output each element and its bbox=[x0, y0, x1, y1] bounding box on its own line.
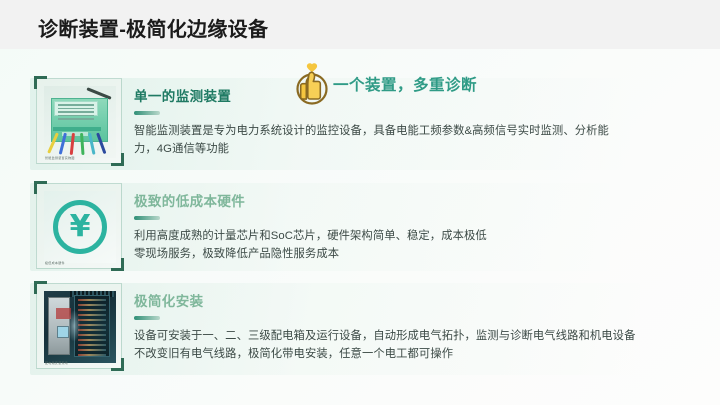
slide-root: 诊断装置-极简化边缘设备 一个装置，多重诊断 bbox=[0, 0, 720, 405]
title-underline bbox=[134, 111, 160, 115]
electrical-cabinet-photo bbox=[44, 291, 116, 363]
title-underline bbox=[134, 216, 160, 220]
thumbnail-device-photo: 智能监测装置实物图 bbox=[36, 78, 122, 164]
cabinet-door bbox=[48, 297, 70, 355]
feature-title: 极简化安装 bbox=[134, 295, 720, 310]
slide-header-bar: 诊断装置-极简化边缘设备 bbox=[0, 0, 720, 49]
thumbnail-image bbox=[44, 291, 116, 363]
feature-title: 单一的监测装置 bbox=[134, 90, 720, 105]
feature-row-single-monitoring-device: 智能监测装置实物图 单一的监测装置 智能监测装置是专为电力系统设计的监控设备，具… bbox=[0, 78, 720, 164]
thumbnail-caption: 配电箱安装现场 bbox=[45, 361, 68, 365]
thumbnail-frame: ¥ 极低成本硬件 bbox=[36, 183, 122, 269]
feature-text-block: 单一的监测装置 智能监测装置是专为电力系统设计的监控设备，具备电能工频参数&高频… bbox=[134, 78, 720, 158]
feature-line: 智能监测装置是专为电力系统设计的监控设备，具备电能工频参数&高频信号实时监测、分… bbox=[134, 122, 720, 140]
device-photo bbox=[44, 86, 116, 158]
thumbnail-cabinet-photo: 配电箱安装现场 bbox=[36, 283, 122, 369]
yen-symbol: ¥ bbox=[53, 200, 107, 254]
thumbnail-caption: 智能监测装置实物图 bbox=[45, 156, 75, 160]
feature-title: 极致的低成本硬件 bbox=[134, 195, 720, 210]
feature-row-low-cost-hardware: ¥ 极低成本硬件 极致的低成本硬件 利用高度成熟的计量芯片和SoC芯片，硬件架构… bbox=[0, 183, 720, 269]
feature-line: 设备可安装于一、二、三级配电箱及运行设备，自动形成电气拓扑，监测与诊断电气线路和… bbox=[134, 327, 720, 345]
yen-currency-icon: ¥ bbox=[44, 191, 116, 263]
feature-line: 零现场服务，极致降低产品隐性服务成本 bbox=[134, 245, 720, 263]
thumbnail-caption: 极低成本硬件 bbox=[45, 261, 65, 265]
thumbnail-yen-icon: ¥ 极低成本硬件 bbox=[36, 183, 122, 269]
thumbnail-frame: 配电箱安装现场 bbox=[36, 283, 122, 369]
thumbnail-frame: 智能监测装置实物图 bbox=[36, 78, 122, 164]
thumbnail-image: ¥ bbox=[44, 191, 116, 263]
title-underline bbox=[134, 316, 160, 320]
device-label bbox=[54, 101, 98, 116]
cabinet-light-glow bbox=[68, 311, 80, 341]
feature-text-block: 极简化安装 设备可安装于一、二、三级配电箱及运行设备，自动形成电气拓扑，监测与诊… bbox=[134, 283, 720, 363]
device-terminal-strip bbox=[53, 127, 101, 131]
feature-line: 利用高度成熟的计量芯片和SoC芯片，硬件架构简单、稳定，成本极低 bbox=[134, 227, 720, 245]
thumbnail-image bbox=[44, 86, 116, 158]
page-title: 诊断装置-极简化边缘设备 bbox=[38, 13, 268, 42]
feature-row-simplified-installation: 配电箱安装现场 极简化安装 设备可安装于一、二、三级配电箱及运行设备，自动形成电… bbox=[0, 283, 720, 369]
feature-text-block: 极致的低成本硬件 利用高度成熟的计量芯片和SoC芯片，硬件架构简单、稳定，成本极… bbox=[134, 183, 720, 263]
feature-line: 力，4G通信等功能 bbox=[134, 140, 720, 158]
feature-line: 不改变旧有电气线路，极简化带电安装，任意一个电工都可操作 bbox=[134, 345, 720, 363]
